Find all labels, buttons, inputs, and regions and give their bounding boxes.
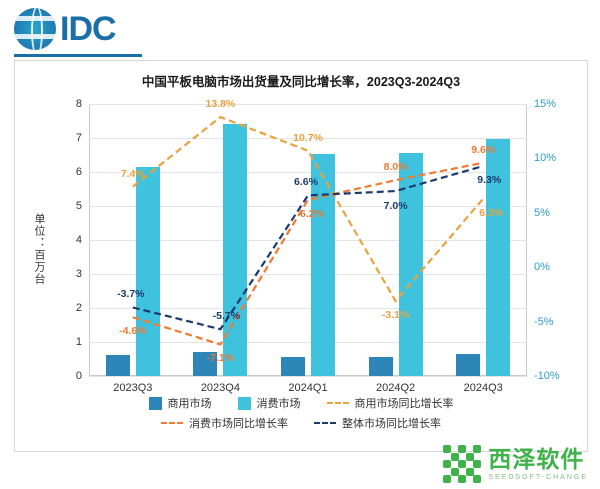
y2-axis-tick: 15% xyxy=(534,98,556,110)
data-label: -5.7% xyxy=(213,310,240,322)
line-消费市场同比增长率 xyxy=(133,163,483,345)
watermark-cn: 西泽软件 xyxy=(488,448,588,471)
data-label: -3.1% xyxy=(382,309,409,321)
y2-axis-tick: 0% xyxy=(534,261,550,273)
data-label: -3.7% xyxy=(117,288,144,300)
seed-dot xyxy=(466,468,474,476)
logo-underline xyxy=(14,54,142,57)
data-label: 7.4% xyxy=(121,168,145,180)
seed-dot xyxy=(473,460,481,468)
legend-swatch xyxy=(238,397,251,410)
legend-item[interactable]: 商用市场 xyxy=(149,395,212,411)
legend-label: 商用市场同比增长率 xyxy=(355,395,454,411)
chart-legend: 商用市场消费市场商用市场同比增长率 消费市场同比增长率整体市场同比增长率 xyxy=(15,391,587,431)
data-label: -7.1% xyxy=(207,352,234,364)
chart-panel: 中国平板电脑市场出货量及同比增长率，2023Q3-2024Q3 单位：百万台 0… xyxy=(14,60,588,452)
legend-item[interactable]: 消费市场同比增长率 xyxy=(161,415,288,431)
y2-axis-tick: 5% xyxy=(534,207,550,219)
watermark: 西泽软件 SEEDSOFT-CHANGE xyxy=(443,445,588,483)
y-axis-tick: 4 xyxy=(76,234,82,246)
seed-logo-icon xyxy=(443,445,481,483)
seed-dot xyxy=(443,460,451,468)
plot-area: 012345678-10%-5%0%5%10%15%2023Q32023Q420… xyxy=(89,104,527,376)
y2-axis-tick: -5% xyxy=(534,316,554,328)
legend-item[interactable]: 整体市场同比增长率 xyxy=(314,415,441,431)
seed-dot xyxy=(451,468,459,476)
seed-dot xyxy=(458,445,466,453)
y-axis-tick: 8 xyxy=(76,98,82,110)
idc-logo: IDC xyxy=(14,8,116,50)
data-label: 6.2% xyxy=(300,208,324,220)
watermark-en: SEEDSOFT-CHANGE xyxy=(488,474,588,481)
chart-page: IDC 中国平板电脑市场出货量及同比增长率，2023Q3-2024Q3 单位：百… xyxy=(0,0,600,489)
seed-dot xyxy=(458,475,466,483)
y-axis-tick: 7 xyxy=(76,132,82,144)
y-axis-label: 单位：百万台 xyxy=(31,213,47,285)
y-axis-tick: 1 xyxy=(76,336,82,348)
line-series-layer xyxy=(89,104,527,376)
data-label: 9.6% xyxy=(471,144,495,156)
chart-title: 中国平板电脑市场出货量及同比增长率，2023Q3-2024Q3 xyxy=(15,71,587,90)
data-label: 8.0% xyxy=(384,161,408,173)
seed-dot xyxy=(473,475,481,483)
logo-text: IDC xyxy=(60,12,116,46)
legend-label: 整体市场同比增长率 xyxy=(342,415,441,431)
legend-label: 消费市场同比增长率 xyxy=(189,415,288,431)
seed-dot xyxy=(466,453,474,461)
data-label: 6.6% xyxy=(294,176,318,188)
y-axis-tick: 3 xyxy=(76,268,82,280)
gridline xyxy=(89,376,527,377)
y2-axis-tick: -10% xyxy=(534,370,560,382)
y-axis-tick: 2 xyxy=(76,302,82,314)
seed-dot xyxy=(473,445,481,453)
data-label: 13.8% xyxy=(206,98,236,110)
y-axis-tick: 5 xyxy=(76,200,82,212)
globe-icon xyxy=(14,8,56,50)
y2-axis-tick: 10% xyxy=(534,152,556,164)
seed-dot xyxy=(451,453,459,461)
legend-item[interactable]: 消费市场 xyxy=(238,395,301,411)
seed-dot xyxy=(443,445,451,453)
legend-swatch xyxy=(149,397,162,410)
line-整体市场同比增长率 xyxy=(133,166,483,329)
legend-swatch xyxy=(314,422,336,424)
y-axis-tick: 0 xyxy=(76,370,82,382)
legend-item[interactable]: 商用市场同比增长率 xyxy=(327,395,454,411)
data-label: 9.3% xyxy=(477,174,501,186)
seed-dot xyxy=(443,475,451,483)
legend-label: 消费市场 xyxy=(257,395,301,411)
legend-label: 商用市场 xyxy=(168,395,212,411)
data-label: 10.7% xyxy=(293,132,323,144)
data-label: 7.0% xyxy=(384,200,408,212)
data-label: -4.6% xyxy=(119,325,146,337)
legend-swatch xyxy=(161,422,183,424)
legend-swatch xyxy=(327,402,349,404)
data-label: 6.3% xyxy=(479,207,503,219)
seed-dot xyxy=(458,460,466,468)
y-axis-tick: 6 xyxy=(76,166,82,178)
